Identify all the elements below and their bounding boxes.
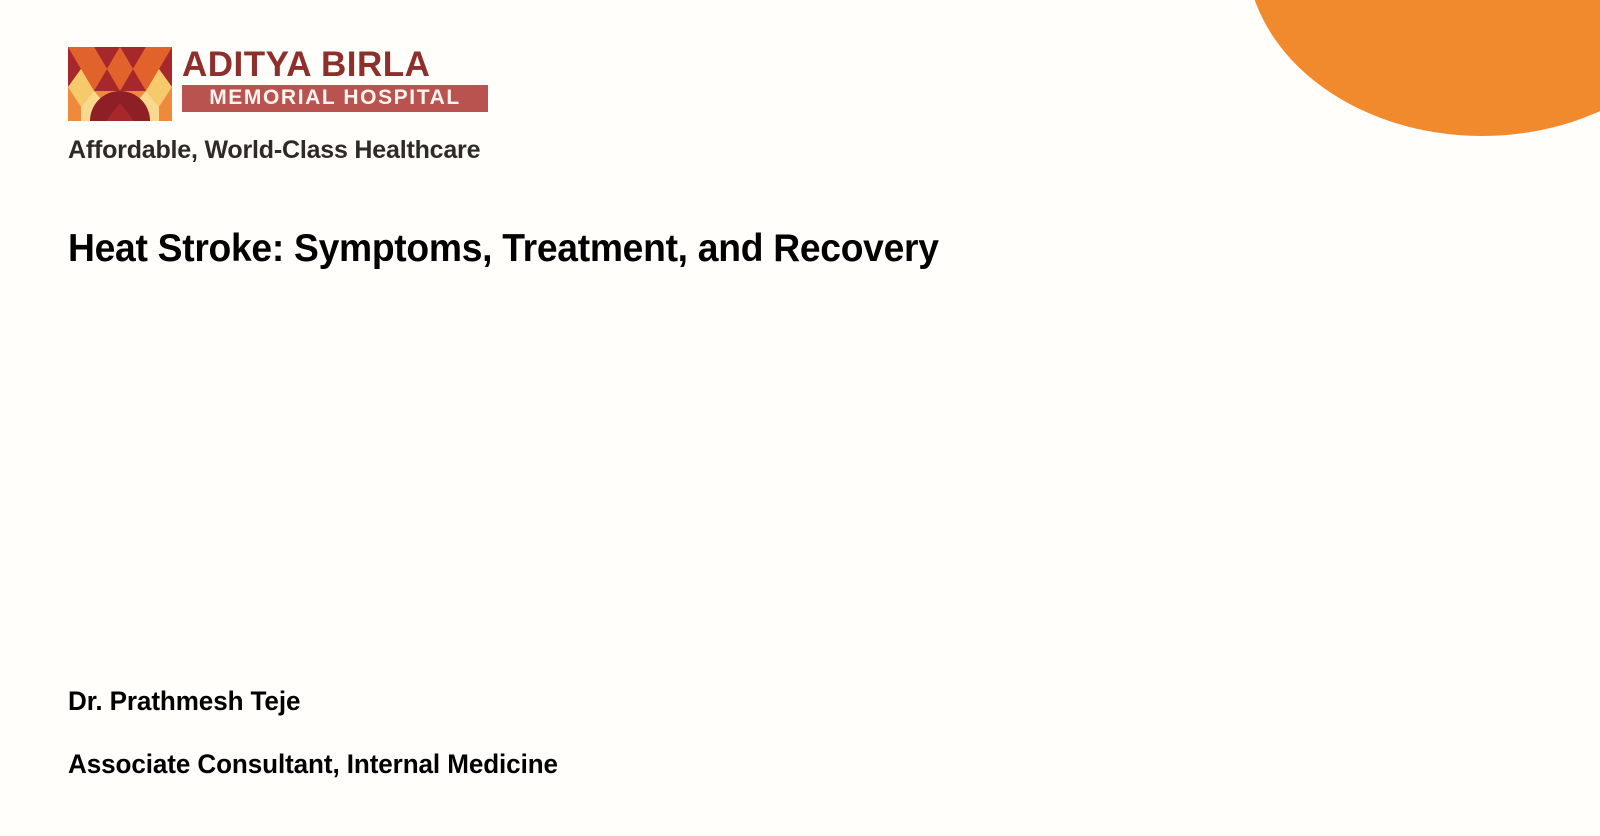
orange-circle-decoration: [1246, 0, 1600, 136]
brand-name-secondary: MEMORIAL HOSPITAL: [182, 85, 488, 112]
slide-title: Heat Stroke: Symptoms, Treatment, and Re…: [68, 226, 1252, 272]
aditya-birla-geometric-mark: [68, 47, 172, 121]
presenter-details: Dr. Prathmesh Teje Associate Consultant,…: [68, 686, 1168, 781]
presentation-title-slide: ADITYA BIRLA MEMORIAL HOSPITAL Affordabl…: [0, 0, 1600, 836]
brand-name-primary: ADITYA BIRLA: [182, 48, 488, 82]
brand-tagline: Affordable, World-Class Healthcare: [68, 137, 488, 165]
logo-wordmark: ADITYA BIRLA MEMORIAL HOSPITAL: [182, 47, 488, 112]
hospital-logo: ADITYA BIRLA MEMORIAL HOSPITAL Affordabl…: [68, 47, 488, 165]
presenter-name: Dr. Prathmesh Teje: [68, 686, 1130, 717]
presenter-designation: Associate Consultant, Internal Medicine: [68, 749, 1130, 780]
